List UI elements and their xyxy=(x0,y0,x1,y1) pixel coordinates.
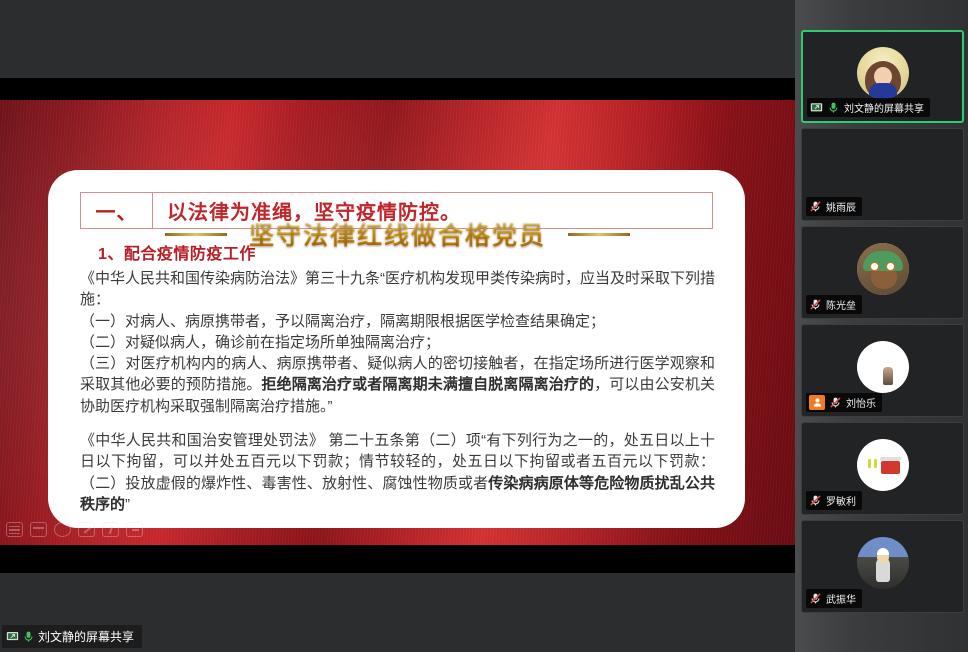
participant-name-bar: 刘怡乐 xyxy=(806,393,882,412)
participant-name-bar: 陈光垒 xyxy=(806,295,862,314)
participant-tile[interactable]: 罗敏利 xyxy=(801,422,964,515)
title-dash-left-icon xyxy=(165,233,227,236)
paragraph-line: （一）对病人、病原携带者，予以隔离治疗，隔离期限根据医学检查结果确定； xyxy=(80,311,715,332)
host-badge-icon xyxy=(809,395,825,410)
share-status-chip: 刘文静的屏幕共享 xyxy=(2,625,142,648)
microphone-muted-icon xyxy=(809,494,822,507)
title-dash-right-icon xyxy=(568,233,630,236)
participant-name: 刘文静的屏幕共享 xyxy=(844,100,924,115)
screen-share-icon xyxy=(6,630,19,643)
letterbox-bottom xyxy=(0,545,795,573)
laser-pointer-icon[interactable] xyxy=(54,522,71,537)
body-text: （二）对疑似病人，确诊前在指定场所单独隔离治疗； xyxy=(80,334,440,351)
participant-name: 武振华 xyxy=(826,591,856,606)
avatar xyxy=(857,341,909,393)
meeting-screen: 坚守法律红线做合格党员 一、 以法律为准绳，坚守疫情防控。 1、配合疫情防疫工作… xyxy=(0,0,968,652)
participant-name-bar: 刘文静的屏幕共享 xyxy=(807,98,930,117)
body-text: ” xyxy=(125,496,130,513)
avatar xyxy=(857,537,909,589)
paragraph: 《中华人民共和国传染病防治法》第三十九条“医疗机构发现甲类传染病时，应当及时采取… xyxy=(80,268,715,417)
slide-title: 坚守法律红线做合格党员 xyxy=(249,216,546,252)
participant-tile[interactable]: 刘文静的屏幕共享 xyxy=(801,30,964,123)
paragraph-line: 《中华人民共和国治安管理处罚法》 第二十五条第（二）项“有下列行为之一的，处五日… xyxy=(80,430,715,515)
participant-name: 陈光垒 xyxy=(826,297,856,312)
presentation-slide[interactable]: 坚守法律红线做合格党员 一、 以法律为准绳，坚守疫情防控。 1、配合疫情防疫工作… xyxy=(0,100,795,545)
participant-name: 罗敏利 xyxy=(826,493,856,508)
avatar xyxy=(857,439,909,491)
paragraph-line: 《中华人民共和国传染病防治法》第三十九条“医疗机构发现甲类传染病时，应当及时采取… xyxy=(80,268,715,311)
microphone-icon xyxy=(827,101,840,114)
slide-body-text: 《中华人民共和国传染病防治法》第三十九条“医疗机构发现甲类传染病时，应当及时采取… xyxy=(72,268,721,515)
microphone-muted-icon xyxy=(809,592,822,605)
slide-title-row: 坚守法律红线做合格党员 xyxy=(0,216,795,252)
participant-tile[interactable]: 姚雨辰 xyxy=(801,128,964,221)
screen-share-icon xyxy=(810,101,823,114)
menu-icon[interactable] xyxy=(6,522,23,537)
cursor-icon[interactable] xyxy=(102,522,119,537)
microphone-icon xyxy=(22,630,35,643)
letterbox-top xyxy=(0,78,795,100)
participant-filmstrip[interactable]: 刘文静的屏幕共享姚雨辰陈光垒刘怡乐罗敏利武振华 xyxy=(795,0,968,652)
paragraph: 《中华人民共和国治安管理处罚法》 第二十五条第（二）项“有下列行为之一的，处五日… xyxy=(80,430,715,515)
shared-screen-area[interactable]: 坚守法律红线做合格党员 一、 以法律为准绳，坚守疫情防控。 1、配合疫情防疫工作… xyxy=(0,0,795,652)
body-text: （一）对病人、病原携带者，予以隔离治疗，隔离期限根据医学检查结果确定； xyxy=(80,313,605,330)
participant-name-bar: 姚雨辰 xyxy=(806,197,862,216)
notes-icon[interactable] xyxy=(126,522,143,537)
microphone-muted-icon xyxy=(829,396,842,409)
avatar xyxy=(857,47,909,99)
participant-name-bar: 武振华 xyxy=(806,589,862,608)
emphasis-text: 拒绝隔离治疗或者隔离期未满擅自脱离隔离治疗的 xyxy=(261,376,594,393)
body-text: 《中华人民共和国传染病防治法》第三十九条“医疗机构发现甲类传染病时，应当及时采取… xyxy=(80,270,715,308)
ppt-presenter-toolbar[interactable] xyxy=(6,522,143,537)
avatar xyxy=(857,243,909,295)
participant-name: 姚雨辰 xyxy=(826,199,856,214)
microphone-muted-icon xyxy=(809,298,822,311)
participant-tile[interactable]: 陈光垒 xyxy=(801,226,964,319)
share-status-label: 刘文静的屏幕共享 xyxy=(38,628,134,645)
slides-grid-icon[interactable] xyxy=(30,522,47,537)
participant-name: 刘怡乐 xyxy=(846,395,876,410)
participant-tile[interactable]: 武振华 xyxy=(801,520,964,613)
participant-tile[interactable]: 刘怡乐 xyxy=(801,324,964,417)
paragraph-line: （二）对疑似病人，确诊前在指定场所单独隔离治疗； xyxy=(80,332,715,353)
pen-icon[interactable] xyxy=(78,522,95,537)
participant-name-bar: 罗敏利 xyxy=(806,491,862,510)
paragraph-line: （三）对医疗机构内的病人、病原携带者、疑似病人的密切接触者，在指定场所进行医学观… xyxy=(80,353,715,417)
microphone-muted-icon xyxy=(809,200,822,213)
